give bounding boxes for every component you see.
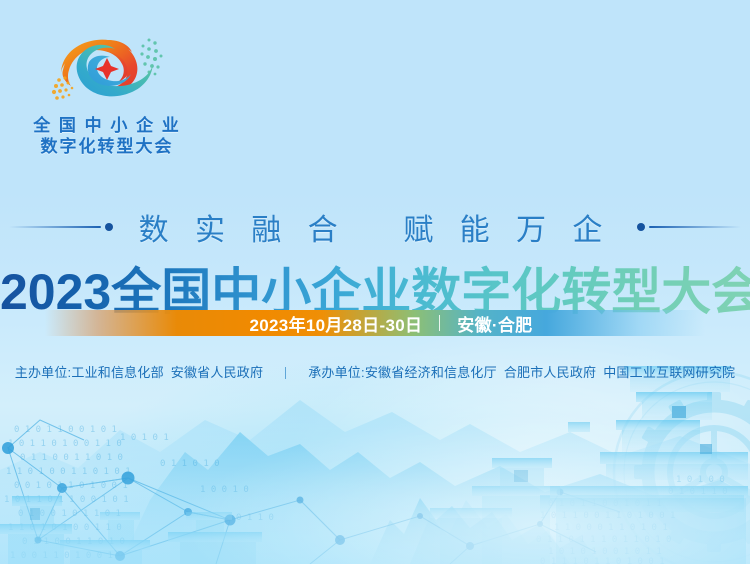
- svg-text:0 1 0 1 1 0: 0 1 0 1 1 0: [668, 487, 728, 497]
- svg-text:0 1 0 1 1 0 0 1 0 1: 0 1 0 1 1 0 0 1 0 1: [14, 425, 117, 435]
- mountain-far: [0, 400, 750, 564]
- svg-text:1 0 1 0 1: 1 0 1 0 1: [120, 433, 169, 443]
- event-location: 安徽·合肥: [457, 311, 532, 336]
- slogan-part2: 赋 能 万 企: [403, 214, 611, 247]
- network-nodes: [2, 442, 564, 561]
- svg-text:0 1 0 1 1 0 0 1 0 1 1: 0 1 0 1 1 0 0 1 0 1 1: [548, 499, 662, 509]
- host-label: 主办单位:: [15, 365, 72, 380]
- slogan-text: 数 实 融 合 赋 能 万 企: [139, 205, 612, 249]
- svg-text:1 0 1 1 0 1 1 0 0 1 0 1: 1 0 1 1 0 1 1 0 0 1 0 1: [4, 495, 129, 505]
- organizers-divider: [285, 367, 286, 379]
- event-date: 2023年10月28日-30日: [250, 311, 423, 336]
- svg-text:0 0 1 0 1 1 0 1 0 0 1: 0 0 1 0 1 1 0 1 0 0 1: [14, 481, 128, 491]
- network-node-graph: [8, 420, 620, 564]
- svg-text:0 1 1 0 0 1 1 0 1 0: 0 1 1 0 0 1 1 0 1 0: [20, 453, 123, 463]
- host-1: 工业和信息化部: [71, 365, 163, 380]
- organizer-label: 承办单位:: [308, 365, 365, 380]
- binary-digits-right: 0 1 0 1 1 0 0 1 0 1 1 1 0 1 1 0 0 1 1 0 …: [536, 475, 728, 564]
- svg-text:0 1 0 0 1 0 1 1 0 1: 0 1 0 0 1 0 1 1 0 1: [18, 509, 121, 519]
- mountain-near-left: [370, 498, 600, 564]
- svg-text:1 0 1 0 0: 1 0 1 0 0: [676, 475, 725, 485]
- svg-text:1 1 0 0 0 1 1 0 1 0 1: 1 1 0 0 0 1 1 0 1 0 1: [554, 523, 668, 533]
- organizer-2: 合肥市人民政府: [504, 365, 596, 380]
- slogan-part1: 数 实 融 合: [139, 214, 347, 247]
- svg-text:1 0 1 1 0 1 0 0 1 1 0: 1 0 1 1 0 1 0 0 1 1 0: [8, 439, 122, 449]
- svg-text:1 1 0 1 0 0 1 1 0 1 0 1: 1 1 0 1 0 0 1 1 0 1 0 1: [6, 467, 131, 477]
- logo-wordmark: 全 国 中 小 企 业 数字化转型大会: [22, 116, 192, 157]
- huizhou-architecture-left: [0, 496, 262, 564]
- decorative-line-left: [9, 222, 113, 232]
- svg-text:0 1 1 1 0 1 1 0 1 0 0 1: 0 1 1 1 0 1 1 0 1 0 0 1: [540, 557, 665, 564]
- conference-poster: 0 1 0 1 1 0 0 1 0 1 1 0 1 1 0 1 0 0 1 1 …: [0, 0, 750, 564]
- gear-wheel-icon: [614, 372, 750, 564]
- host-2: 安徽省人民政府: [171, 365, 263, 380]
- date-location-bar: 2023年10月28日-30日 安徽·合肥: [45, 310, 705, 336]
- huizhou-architecture-center: [430, 458, 560, 564]
- svg-text:1 0 1 0 1 0 0 1 0 1 1: 1 0 1 0 1 0 0 1 0 1 1: [548, 547, 662, 557]
- mountain-mid: [120, 432, 750, 564]
- huizhou-architecture-right: [540, 366, 748, 564]
- svg-text:0 1 1 0 1 0: 0 1 1 0 1 0: [160, 459, 220, 469]
- svg-text:0 1 1 0 1 1 1 0 1 1 0 1 0: 0 1 1 0 1 1 1 0 1 1 0 1 0: [536, 535, 671, 545]
- conference-emblem-icon: [45, 22, 169, 114]
- logo-wordmark-line2: 数字化转型大会: [22, 137, 192, 158]
- slogan-row: 数 实 融 合 赋 能 万 企: [0, 206, 750, 248]
- logo-wordmark-line1: 全 国 中 小 企 业: [22, 116, 192, 137]
- organizers-line: 主办单位:工业和信息化部安徽省人民政府承办单位:安徽省经济和信息化厅合肥市人民政…: [0, 362, 750, 381]
- mountain-wash: [410, 500, 570, 564]
- svg-text:1 0 1 1 0 0 1 1 0 1 0 0 1: 1 0 1 1 0 0 1 1 0 1 0 0 1: [540, 511, 675, 521]
- svg-text:0 1 1 0: 0 1 1 0: [236, 513, 274, 523]
- logo-block: 全 国 中 小 企 业 数字化转型大会: [22, 22, 192, 157]
- date-location-divider: [439, 315, 440, 331]
- organizer-1: 安徽省经济和信息化厅: [365, 365, 497, 380]
- svg-text:0 1 1 0 0 1 1 0 1 0: 0 1 1 0 0 1 1 0 1 0: [22, 537, 125, 547]
- binary-digits: 0 1 0 1 1 0 0 1 0 1 1 0 1 1 0 1 0 0 1 1 …: [4, 425, 274, 561]
- organizer-3: 中国工业互联网研究院: [603, 365, 735, 380]
- svg-text:1 0 0 1 1 0 1 0 0 1 1: 1 0 0 1 1 0 1 0 0 1 1: [10, 551, 124, 561]
- svg-text:1 1 0 1 0 1 0 0 1 1 0: 1 1 0 1 0 1 0 0 1 1 0: [8, 523, 122, 533]
- svg-text:1 0 0 1 0: 1 0 0 1 0: [200, 485, 249, 495]
- decorative-line-right: [637, 222, 741, 232]
